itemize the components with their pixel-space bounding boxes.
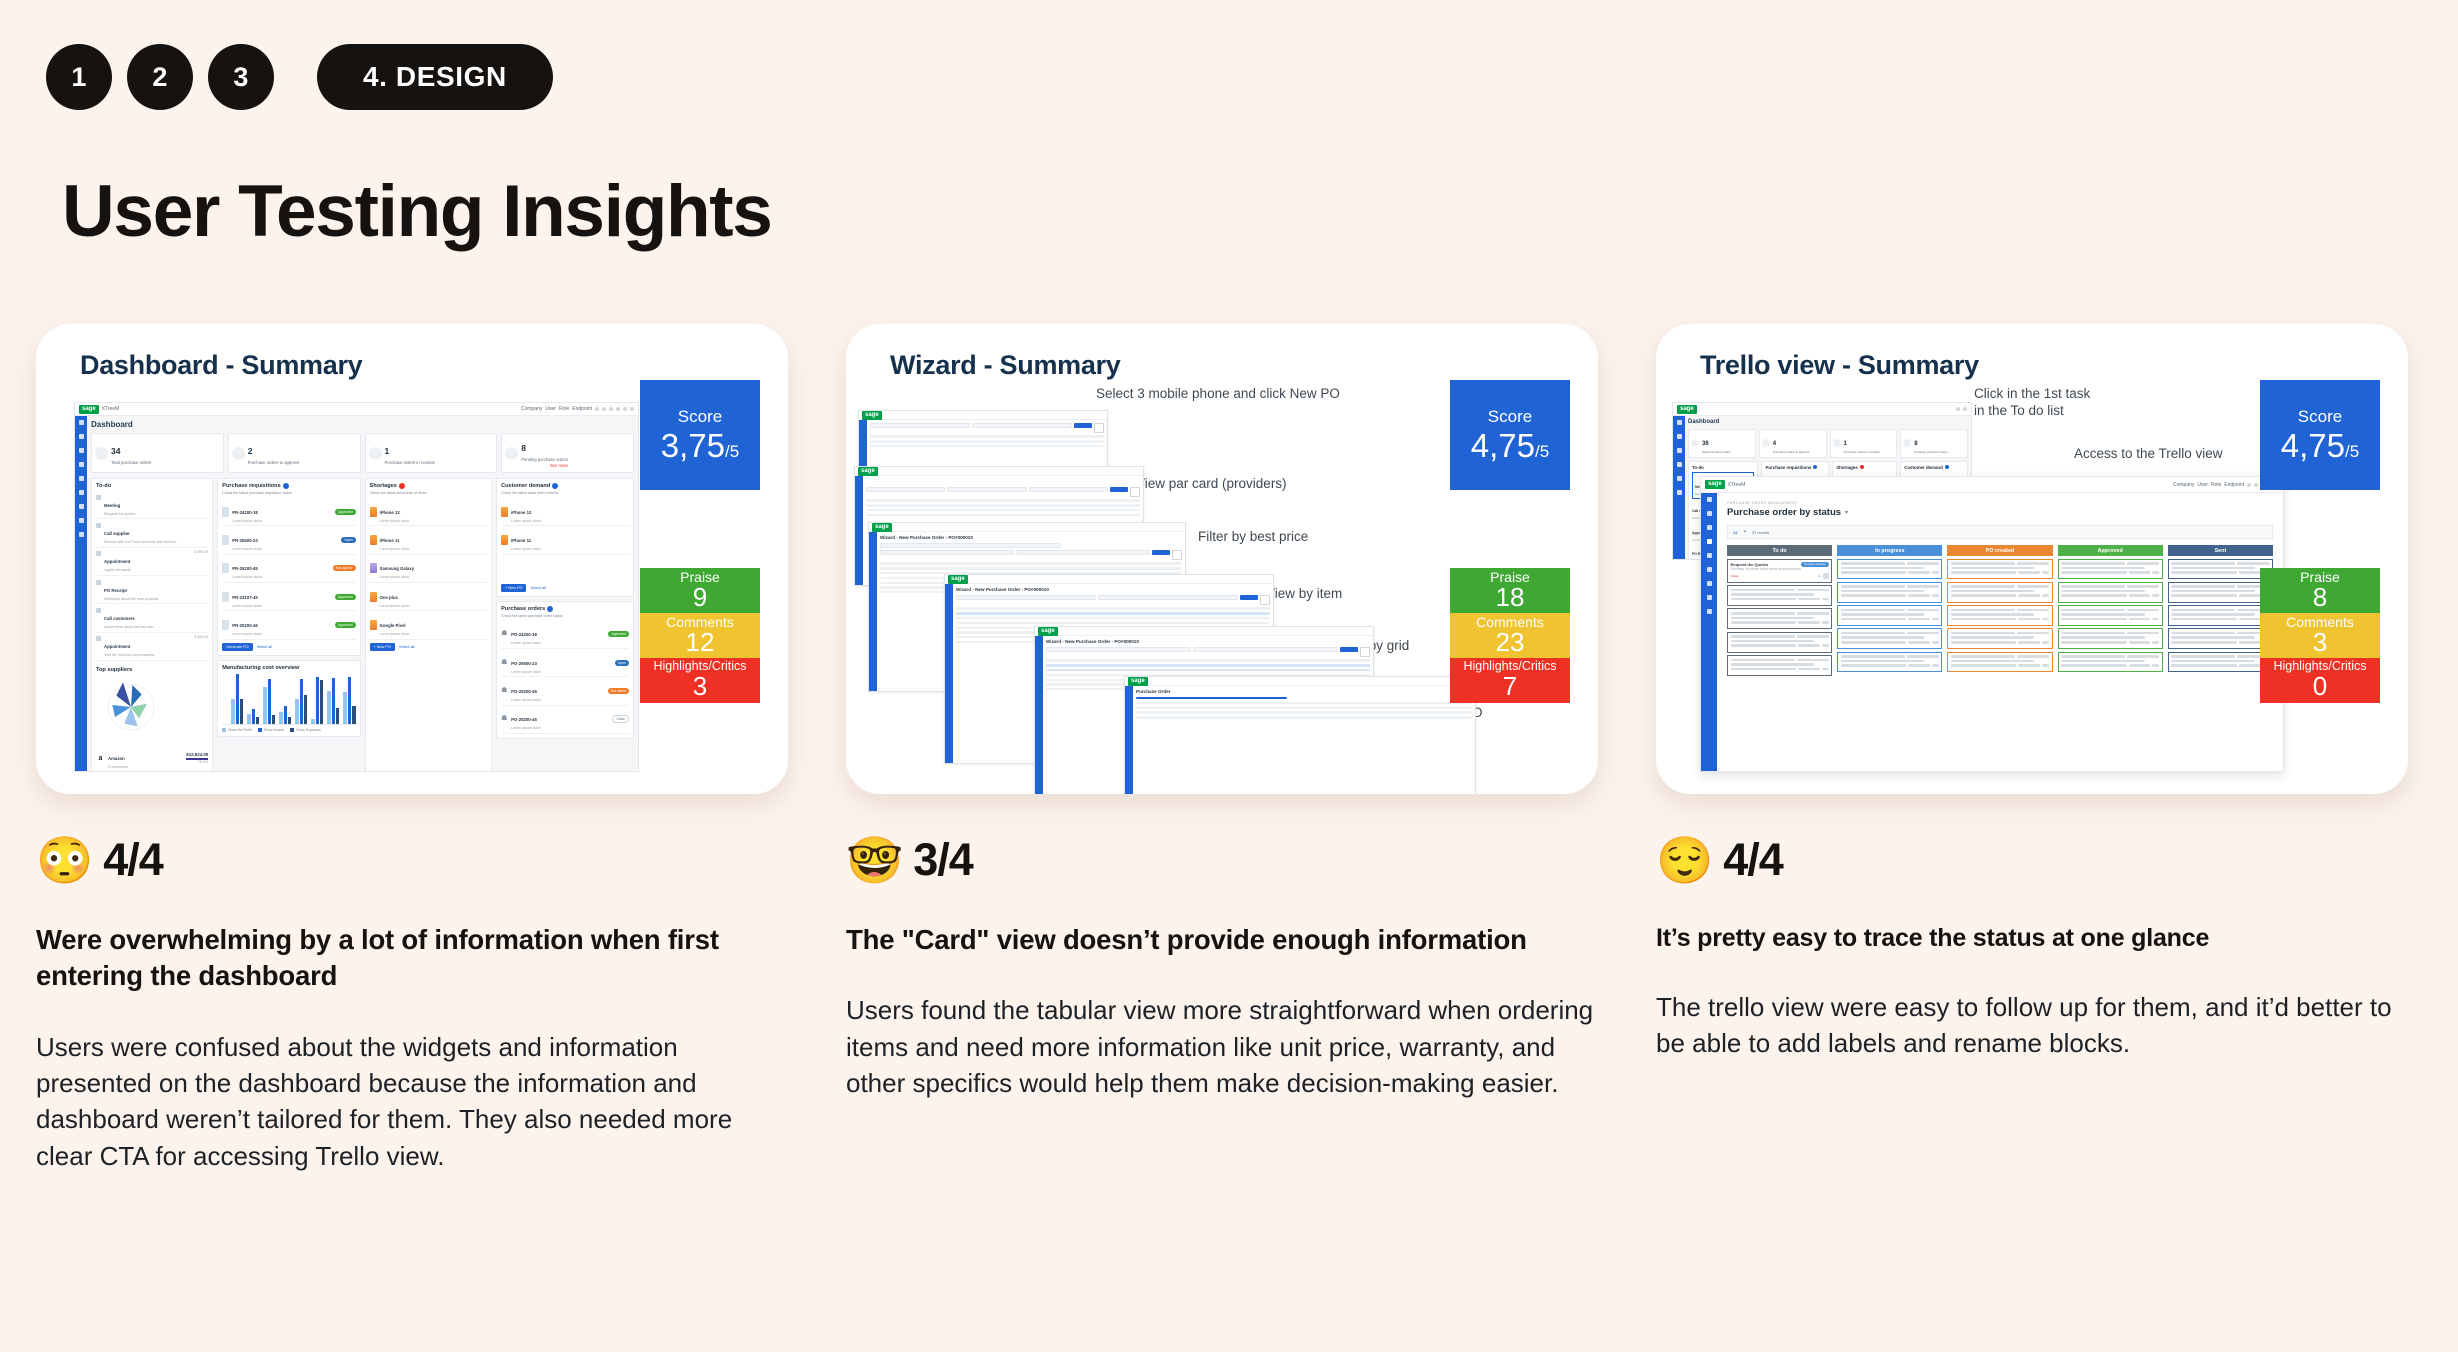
item-thumb: [501, 535, 508, 545]
item-thumb: [222, 507, 229, 517]
step-indicator: 1 2 3 4. DESIGN: [46, 44, 553, 110]
table-row[interactable]: ☗PO-24200-18Lorem ipsum dolorApproved: [501, 621, 629, 649]
amount: 8.950,00: [194, 550, 208, 572]
widget-title-suppliers: Top suppliers: [96, 667, 208, 673]
kanban-card[interactable]: [1837, 582, 1942, 603]
info-icon: [1813, 465, 1817, 469]
column-header: In progress: [1837, 545, 1942, 556]
topbar-company[interactable]: Company: [2173, 482, 2194, 488]
widget-title: To-do: [96, 483, 208, 489]
kanban-card[interactable]: Request the QuotesPurchase requisition S…: [1727, 559, 1832, 583]
phone-icon: [96, 523, 101, 528]
nerd-face-emoji: 🤓: [846, 837, 903, 883]
item-thumb: [222, 535, 229, 545]
sidebar-icon-cart[interactable]: [1707, 539, 1712, 544]
kanban-card[interactable]: [1837, 559, 1942, 580]
kpi-value: 34: [111, 446, 120, 456]
critics-box: Highlights/Critics7: [1450, 658, 1570, 703]
sage-logo: sage: [1705, 480, 1725, 489]
sidebar-icon-users[interactable]: [1707, 567, 1712, 572]
card-title: Dashboard - Summary: [80, 350, 362, 381]
chevron-down-icon[interactable]: ▾: [1845, 509, 1848, 516]
sidebar-icon-person[interactable]: [79, 518, 84, 523]
kanban-card[interactable]: [2168, 582, 2273, 603]
sidebar-icon-star[interactable]: [1707, 511, 1712, 516]
alert-icon: [1860, 465, 1864, 469]
window-topbar: sage: [1125, 677, 1475, 686]
clear-button[interactable]: [1130, 487, 1140, 497]
relieved-face-emoji: 😌: [1656, 837, 1713, 883]
kpi-card[interactable]: 2Purchase orders to approve: [228, 433, 361, 473]
item-thumb: [222, 620, 229, 630]
search-button[interactable]: [1074, 423, 1092, 428]
help-icon[interactable]: [2247, 483, 2251, 487]
insight-headline: It’s pretty easy to trace the status at …: [1656, 922, 2408, 955]
kanban-column-inprogress: In progress: [1837, 545, 1942, 676]
kpi-caption: Purchase orders in revision: [385, 460, 436, 465]
sidebar-icon-doc[interactable]: [1707, 581, 1712, 586]
step-4-design[interactable]: 4. DESIGN: [317, 44, 553, 110]
item-thumb: [222, 592, 229, 602]
kpi-card[interactable]: 1Purchase orders in revision: [1830, 429, 1898, 458]
topbar-endpoint[interactable]: Endpoint: [572, 406, 592, 412]
select-all-link[interactable]: Select all: [530, 586, 545, 590]
window-title: [866, 479, 1140, 484]
widget-shortages: Shortages Check the latest stock level o…: [365, 478, 493, 771]
kpi-value: 8: [521, 443, 526, 453]
widget-cost-chart: Manufacturing cost overview: [217, 660, 360, 737]
clear-button[interactable]: [1360, 647, 1370, 657]
annotation-click-first-task: Click in the 1st task in the To do list: [1974, 386, 2090, 420]
search-icon[interactable]: [1367, 630, 1370, 633]
search-icon[interactable]: [1101, 414, 1104, 417]
sage-logo: sage: [858, 467, 878, 476]
step-1-label: 1: [71, 62, 86, 93]
step-2-label: 2: [152, 62, 167, 93]
column-header: PO created: [1947, 545, 2052, 556]
mock-topbar: sage XTreeM Company User Role Endpoint: [75, 403, 638, 416]
window-title: Wizard - New Purchase Order - PO#000010: [956, 587, 1270, 592]
widget-actions: Generate POSelect all: [222, 643, 355, 651]
window-topbar: sage: [1035, 627, 1373, 636]
table-row[interactable]: iPhone 12Lorem ipsum dolor: [501, 498, 629, 526]
insight-columns: Dashboard - Summary sage XTreeM Company …: [0, 324, 2458, 1174]
new-po-button[interactable]: + New PO: [370, 643, 395, 651]
topbar-role[interactable]: Role: [2211, 482, 2221, 488]
table-row[interactable]: Google PixelLorem ipsum dolor: [370, 611, 488, 639]
item-thumb: [370, 507, 377, 517]
insight-body: The trello view were easy to follow up f…: [1656, 989, 2408, 1062]
search-button[interactable]: [1152, 550, 1170, 555]
screenshot-card-wizard[interactable]: Wizard - Summary Select 3 mobile phone a…: [846, 324, 1598, 794]
window-title: Purchase Order: [1136, 689, 1472, 694]
score-box: Score 4,75/5: [2260, 380, 2380, 490]
amazon-logo: a: [96, 754, 105, 763]
praise-box: Praise9: [640, 568, 760, 613]
search-button[interactable]: [1240, 595, 1258, 600]
widget-customer-demand: Customer demand Check the latest stock l…: [496, 478, 634, 597]
widget-actions: + New POSelect all: [501, 584, 629, 592]
table-row[interactable]: ☗PO-25500-23Lorem ipsum dolorOpen: [501, 649, 629, 677]
kanban-card[interactable]: [2168, 559, 2273, 580]
cart-icon: ☗: [501, 658, 508, 668]
table-row[interactable]: ☗PO-25200-45Lorem ipsum dolorNot asked: [501, 677, 629, 705]
select-all-link[interactable]: Select all: [257, 645, 272, 649]
clock-icon: [1833, 439, 1841, 447]
metrics-panel: Score 4,75/5 Praise18 Comments23 Highlig…: [1450, 380, 1570, 703]
info-icon: [1945, 465, 1949, 469]
comments-box: Comments12: [640, 613, 760, 658]
card-title: Wizard - Summary: [890, 350, 1121, 381]
step-3[interactable]: 3: [208, 44, 274, 110]
kanban-card[interactable]: [1837, 605, 1942, 626]
sidebar-icon-users[interactable]: [79, 490, 84, 495]
kanban-card[interactable]: [2058, 559, 2163, 580]
kpi-card[interactable]: 34Total purchase orders: [91, 433, 224, 473]
verdict-score: 3/4: [913, 834, 973, 886]
kanban-card[interactable]: [1727, 608, 1832, 629]
widget-title: Manufacturing cost overview: [222, 665, 355, 671]
topbar-company[interactable]: Company: [521, 406, 542, 412]
kanban-card[interactable]: [1947, 605, 2052, 626]
mock-page-header: Dashboard: [1688, 419, 1968, 425]
amount: 8.950,00: [194, 635, 208, 657]
annotation-filter-price: Filter by best price: [1198, 529, 1308, 546]
product-name: XTreeM: [1728, 482, 1746, 488]
score-label: Score: [678, 408, 722, 425]
step-1[interactable]: 1: [46, 44, 112, 110]
doc-icon: [96, 580, 101, 585]
item-thumb: [370, 535, 377, 545]
search-icon[interactable]: [1179, 526, 1182, 529]
sidebar-icon-star[interactable]: [79, 434, 84, 439]
critics-box: Highlights/Critics0: [2260, 658, 2380, 703]
card-title: Trello view - Summary: [1700, 350, 1979, 381]
kpi-card[interactable]: 4Purchase orders to approve: [1759, 429, 1827, 458]
clock-icon: [96, 636, 101, 641]
sidebar-icon-gear[interactable]: [79, 532, 84, 537]
kanban-card[interactable]: [1837, 628, 1942, 649]
item-thumb: [370, 563, 377, 573]
column-header: To do: [1727, 545, 1832, 556]
sage-logo: sage: [872, 523, 892, 532]
list-item[interactable]: aAmazonE-commerce$12,824.0075.3%: [96, 744, 208, 771]
kanban-column-todo: To do Request the QuotesPurchase requisi…: [1727, 545, 1832, 676]
annotation-access-trello: Access to the Trello view: [2074, 446, 2223, 463]
clock-icon: [369, 447, 382, 460]
insight-column-dashboard: Dashboard - Summary sage XTreeM Company …: [36, 324, 788, 1174]
chart-legend: Show Net Profit Show Income Show Expense…: [222, 728, 355, 732]
sidebar-icon-box[interactable]: [1707, 525, 1712, 530]
kanban-card[interactable]: [2058, 605, 2163, 626]
search-button[interactable]: [1110, 487, 1128, 492]
product-name: XTreeM: [102, 406, 120, 412]
results-count: 37 results: [1752, 530, 1769, 535]
item-thumb: [222, 563, 229, 573]
kanban-card[interactable]: [2168, 605, 2273, 626]
list-item[interactable]: AppointmentVisit the KornVou supermarket…: [96, 633, 208, 661]
search-icon[interactable]: [1137, 470, 1140, 473]
insight-column-trello: Trello view - Summary Click in the 1st t…: [1656, 324, 2408, 1174]
table-row[interactable]: PR-24200-18Lorem ipsum dolorApproved: [222, 498, 355, 526]
flushed-face-emoji: 😳: [36, 837, 93, 883]
clear-button[interactable]: [1094, 423, 1104, 433]
score-denominator: /5: [725, 442, 739, 461]
annotation-view-card: View par card (providers): [1136, 476, 1287, 493]
avatar[interactable]: [630, 407, 634, 411]
all-filter[interactable]: All: [1733, 530, 1737, 535]
widget-subtitle: Check the latest purchase requisition st…: [222, 491, 355, 495]
status-badge: Close: [612, 715, 629, 723]
window-sidebar: [945, 584, 953, 763]
see-more-link[interactable]: See more: [521, 463, 568, 468]
sidebar-icon-alert[interactable]: [79, 476, 84, 481]
radar-chart: [96, 677, 166, 737]
widget-subtitle: Check the latest purchase order status: [501, 614, 629, 618]
sidebar-icon-alert[interactable]: [1677, 476, 1682, 481]
chevron-down-icon[interactable]: ▾: [1743, 529, 1746, 535]
window-sidebar: [1035, 636, 1043, 794]
trello-window[interactable]: sage XTreeM Company User Role Endpoint P…: [1700, 476, 2284, 772]
kpi-value: 2: [248, 446, 253, 456]
step-2[interactable]: 2: [127, 44, 193, 110]
verdict-row: 😳 4/4: [36, 834, 788, 886]
sidebar-icon-home[interactable]: [79, 420, 84, 425]
table-row[interactable]: Samsung GalaxyLorem ipsum dolor: [370, 555, 488, 583]
sidebar-icon-cart[interactable]: [1677, 462, 1682, 467]
insight-body: Users found the tabular view more straig…: [846, 992, 1598, 1101]
kanban-column-sent: Sent: [2168, 545, 2273, 676]
kanban-card[interactable]: [1947, 652, 2052, 673]
cart-icon: ☗: [501, 714, 508, 724]
widget-title: Purchase orders: [501, 606, 629, 612]
topbar-user[interactable]: User: [545, 406, 556, 412]
table-row[interactable]: ☗PO-25200-45Lorem ipsum dolorClose: [501, 706, 629, 734]
info-icon: [547, 606, 553, 612]
sidebar-icon-person[interactable]: [1707, 595, 1712, 600]
search-button[interactable]: [1340, 647, 1358, 652]
sidebar-icon-home[interactable]: [1677, 420, 1682, 425]
table-row[interactable]: iPhone 11Lorem ipsum dolor: [501, 526, 629, 554]
kpi-card[interactable]: 8Pending purchase ordersSee more: [501, 433, 634, 473]
score-value: 3,75: [661, 427, 725, 464]
kanban-card[interactable]: [1727, 655, 1832, 676]
table-row[interactable]: PR-25200-46Lorem ipsum dolorApproved: [222, 611, 355, 639]
kanban-card[interactable]: [2168, 628, 2273, 649]
kanban-card[interactable]: [2058, 628, 2163, 649]
metrics-panel: Score 4,75/5 Praise8 Comments3 Highlight…: [2260, 380, 2380, 703]
score-denominator: /5: [2345, 442, 2359, 461]
sidebar-icon-box[interactable]: [1677, 448, 1682, 453]
sidebar-icon-users[interactable]: [1677, 490, 1682, 495]
table-row[interactable]: PR-23107-45Lorem ipsum dolorApproved: [222, 583, 355, 611]
table-row[interactable]: PR-25500-23Lorem ipsum dolorOpen: [222, 526, 355, 554]
select-all-link[interactable]: Select all: [399, 645, 414, 649]
check-icon: [232, 447, 245, 460]
comments-box: Comments3: [2260, 613, 2380, 658]
wizard-window[interactable]: sage Purchase Order: [1124, 676, 1476, 794]
screenshot-card-trello[interactable]: Trello view - Summary Click in the 1st t…: [1656, 324, 2408, 794]
sidebar-icon-doc[interactable]: [79, 504, 84, 509]
kpi-card[interactable]: 1Purchase orders in revision: [365, 433, 498, 473]
topbar-icons: [595, 407, 634, 411]
praise-box: Praise18: [1450, 568, 1570, 613]
kpi-caption: Purchase orders to approve: [248, 460, 300, 465]
help-icon[interactable]: [595, 407, 599, 411]
info-icon: [552, 483, 558, 489]
cart-icon: ☗: [501, 686, 508, 696]
page-title: Purchase order by status: [1727, 507, 1841, 518]
kanban-column-approved: Approved: [2058, 545, 2163, 676]
sidebar-icon-box[interactable]: [79, 448, 84, 453]
list-item[interactable]: PO ReceiptWorkshop about the new product…: [96, 576, 208, 604]
widget-title: Purchase requisitions: [222, 483, 355, 489]
sidebar-icon-alert[interactable]: [1707, 553, 1712, 558]
topbar-endpoint[interactable]: Endpoint: [2224, 482, 2244, 488]
score-value: 4,75: [2281, 427, 2345, 464]
kanban-card[interactable]: [1837, 652, 1942, 673]
mock-topbar: sage: [1673, 403, 1971, 416]
warning-icon: [505, 447, 518, 460]
list-item[interactable]: MeetingRequest the quotes: [96, 491, 208, 519]
item-thumb: [501, 507, 508, 517]
score-label: Score: [1488, 408, 1532, 425]
status-badge: Open: [615, 660, 629, 666]
widget-purchase-requisitions: Purchase requisitions Check the latest p…: [217, 478, 360, 656]
metrics-panel: Score 3,75/5 Praise9 Comments12 Highligh…: [640, 380, 760, 703]
clear-button[interactable]: [1172, 550, 1182, 560]
window-sidebar: [1125, 686, 1133, 794]
sage-logo: sage: [79, 405, 99, 414]
list-item[interactable]: Call customersInform them about the new …: [96, 604, 208, 632]
comments-box: Comments23: [1450, 613, 1570, 658]
warning-icon: [1903, 439, 1911, 447]
kpi-value: 1: [385, 446, 390, 456]
mock-sidebar: [75, 416, 87, 771]
widget-title: Customer demand: [501, 483, 629, 489]
score-box: Score 4,75/5: [1450, 380, 1570, 490]
list-item[interactable]: Call supplierDiscuss with Dot Food about…: [96, 519, 208, 547]
new-po-button[interactable]: + New PO: [501, 584, 526, 592]
card-desc: Summary on primed lorem ipsum sit amet d…: [1731, 567, 1829, 571]
status-badge: Open: [341, 537, 355, 543]
window-title: Wizard - New Purchase Order - PO#000010: [1046, 639, 1370, 644]
insight-headline: The "Card" view doesn’t provide enough i…: [846, 922, 1598, 958]
settings-icon[interactable]: [609, 407, 613, 411]
clear-button[interactable]: [1260, 595, 1270, 605]
widget-subtitle: Check the latest stock level of items: [501, 491, 629, 495]
topbar-role[interactable]: Role: [559, 406, 569, 412]
praise-box: Praise8: [2260, 568, 2380, 613]
item-thumb: [370, 620, 377, 630]
score-denominator: /5: [1535, 442, 1549, 461]
screenshot-card-dashboard[interactable]: Dashboard - Summary sage XTreeM Company …: [36, 324, 788, 794]
check-icon: [1762, 439, 1770, 447]
kanban-card[interactable]: [1947, 582, 2052, 603]
kanban-card[interactable]: [1947, 628, 2052, 649]
star-icon[interactable]: [602, 407, 606, 411]
cart-icon: [1691, 439, 1699, 447]
info-icon: [283, 483, 289, 489]
cart-icon: ☗: [501, 629, 508, 639]
score-box: Score 3,75/5: [640, 380, 760, 490]
table-row[interactable]: iPhone 12Lorem ipsum dolor: [370, 498, 488, 526]
table-row[interactable]: iPhone 11Lorem ipsum dolor: [370, 526, 488, 554]
sidebar-icon-star[interactable]: [1677, 434, 1682, 439]
search-icon[interactable]: [1267, 578, 1270, 581]
search-icon[interactable]: [1956, 407, 1960, 411]
kanban-card[interactable]: [1727, 585, 1832, 606]
kanban-card[interactable]: [1727, 632, 1832, 653]
annotation-view-item: View by item: [1266, 586, 1342, 603]
step-3-label: 3: [233, 62, 248, 93]
card-badge: Purchase requisition: [1801, 562, 1829, 567]
column-header: Approved: [2058, 545, 2163, 556]
kanban-card[interactable]: [2058, 652, 2163, 673]
widget-row: To-do MeetingRequest the quotes Call sup…: [91, 478, 634, 771]
avatar[interactable]: [1963, 407, 1967, 411]
sage-logo: sage: [1128, 677, 1148, 686]
phone-icon: [96, 608, 101, 613]
generate-po-button[interactable]: Generate PO: [222, 643, 252, 651]
table-row[interactable]: PR-25200-45Lorem ipsum dolorNot approv: [222, 555, 355, 583]
kpi-card[interactable]: 8Pending purchase orders: [1900, 429, 1968, 458]
mock-topbar: sage XTreeM Company User Role Endpoint: [1701, 477, 2283, 493]
toolbar: All ▾ 37 results: [1727, 525, 2273, 539]
verdict-row: 🤓 3/4: [846, 834, 1598, 886]
slide-root: 1 2 3 4. DESIGN User Testing Insights Da…: [0, 0, 2458, 1352]
topbar-user[interactable]: User: [2197, 482, 2208, 488]
sidebar-icon-home[interactable]: [1707, 497, 1712, 502]
window-topbar: sage: [869, 523, 1185, 532]
status-badge: Approved: [608, 631, 629, 637]
bar-chart: [222, 673, 355, 725]
avatar: [1823, 573, 1829, 579]
alert-icon: [399, 483, 405, 489]
dashboard-mock: sage XTreeM Company User Role Endpoint: [74, 402, 639, 772]
kanban-column-pocreated: PO created: [1947, 545, 2052, 676]
sidebar-icon-cart[interactable]: [79, 462, 84, 467]
insight-column-wizard: Wizard - Summary Select 3 mobile phone a…: [846, 324, 1598, 1174]
trello-sidebar: [1701, 493, 1717, 772]
sidebar-icon-gear[interactable]: [1707, 609, 1712, 614]
kanban-card[interactable]: [1947, 559, 2052, 580]
calendar-icon: [96, 495, 101, 500]
status-badge: Not approv: [333, 565, 356, 571]
attachment-count: 12: [1817, 574, 1820, 578]
item-thumb: [370, 592, 377, 602]
kanban-card[interactable]: [2168, 652, 2273, 673]
kanban-board: To do Request the QuotesPurchase requisi…: [1727, 545, 2273, 676]
notification-icon[interactable]: [623, 407, 627, 411]
search-icon[interactable]: [616, 407, 620, 411]
status-badge: Not asked: [608, 688, 629, 694]
kpi-row: 34Total purchase orders 2Purchase orders…: [91, 433, 634, 473]
kanban-card[interactable]: [2058, 582, 2163, 603]
kpi-card[interactable]: 36Total purchase orders: [1688, 429, 1756, 458]
list-item[interactable]: AppointmentJupiter All hands8.950,00: [96, 548, 208, 576]
star-icon[interactable]: [2254, 483, 2258, 487]
score-value: 4,75: [1471, 427, 1535, 464]
table-row[interactable]: One plusLorem ipsum dolor: [370, 583, 488, 611]
verdict-row: 😌 4/4: [1656, 834, 2408, 886]
verdict-score: 4/4: [1723, 834, 1783, 886]
status-badge: Approved: [335, 509, 356, 515]
window-topbar: sage: [859, 411, 1107, 420]
critics-box: Highlights/Critics3: [640, 658, 760, 703]
page-title: User Testing Insights: [62, 175, 772, 248]
window-title: Wizard - New Purchase Order - PO#000010: [880, 535, 1182, 540]
